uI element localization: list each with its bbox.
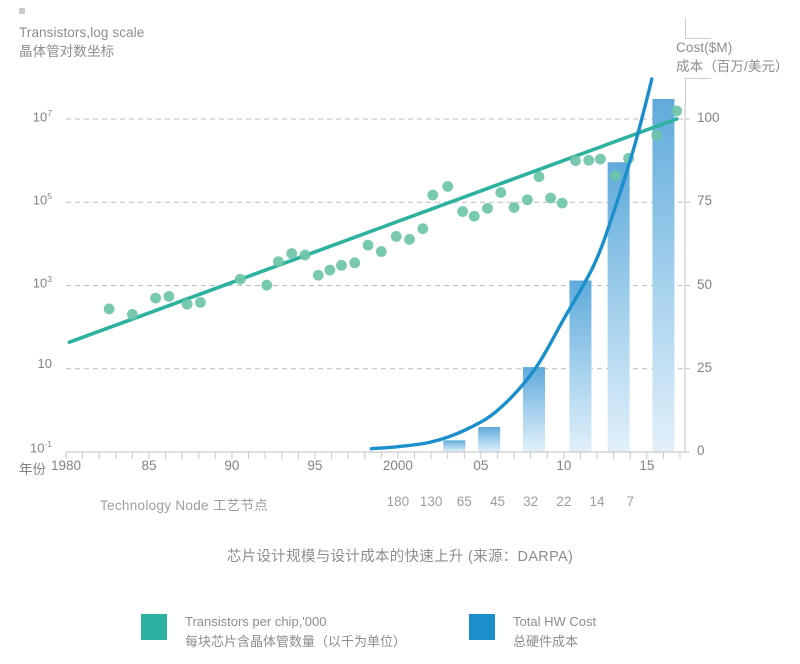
- scatter-point: [163, 291, 174, 302]
- chart-root: Transistors,log scale 晶体管对数坐标 Cost($M) 成…: [0, 0, 800, 664]
- scatter-point: [495, 187, 506, 198]
- scatter-point: [469, 211, 480, 222]
- x-axis-tick-label: 85: [119, 458, 179, 473]
- scatter-point: [442, 181, 453, 192]
- legend-label-transistors-cn: 每块芯片含晶体管数量（以千为单位）: [185, 632, 406, 652]
- scatter-point: [261, 280, 272, 291]
- right-axis-tick-label: 50: [697, 277, 712, 292]
- scatter-point: [286, 248, 297, 259]
- scatter-point: [557, 198, 568, 209]
- scatter-point: [570, 155, 581, 166]
- legend-item-transistors: Transistors per chip,'000 每块芯片含晶体管数量（以千为…: [141, 612, 406, 652]
- legend-item-cost: Total HW Cost 总硬件成本: [469, 612, 596, 652]
- x-axis-tick-label: 1980: [36, 458, 96, 473]
- scatter-point: [457, 206, 468, 217]
- scatter-point: [104, 304, 115, 315]
- scatter-point: [324, 265, 335, 276]
- left-axis-tick-label: 10-1: [0, 439, 52, 455]
- scatter-point: [417, 223, 428, 234]
- cost-bar: [443, 440, 465, 452]
- scatter-point: [404, 234, 415, 245]
- x-axis-tick-label: 95: [285, 458, 345, 473]
- scatter-point: [273, 256, 284, 267]
- scatter-point: [182, 299, 193, 310]
- node-axis-title: Technology Node 工艺节点: [100, 494, 268, 514]
- legend-label-transistors: Transistors per chip,'000 每块芯片含晶体管数量（以千为…: [185, 612, 406, 652]
- cost-bar: [652, 99, 674, 452]
- scatter-point: [336, 260, 347, 271]
- scatter-point: [313, 270, 324, 281]
- scatter-point: [509, 202, 520, 213]
- legend-swatch-cost: [469, 614, 495, 640]
- scatter-point: [671, 106, 682, 117]
- legend-swatch-transistors: [141, 614, 167, 640]
- chart-caption: 芯片设计规模与设计成本的快速上升 (来源：DARPA): [0, 545, 800, 566]
- cost-bar: [478, 427, 500, 452]
- chart-legend: Transistors per chip,'000 每块芯片含晶体管数量（以千为…: [0, 608, 800, 664]
- x-axis-tick-label: 10: [534, 458, 594, 473]
- cost-bars: [443, 99, 674, 452]
- cost-bar: [608, 162, 630, 452]
- scatter-point: [300, 250, 311, 261]
- scatter-point: [391, 231, 402, 242]
- x-axis-tick-label: 90: [202, 458, 262, 473]
- legend-label-cost: Total HW Cost 总硬件成本: [513, 612, 596, 652]
- scatter-point: [583, 155, 594, 166]
- x-axis-tick-label: 05: [451, 458, 511, 473]
- right-axis-tick-label: 75: [697, 193, 712, 208]
- scatter-point: [150, 293, 161, 304]
- scatter-point: [427, 190, 438, 201]
- right-axis-tick-label: 100: [697, 110, 720, 125]
- transistor-scatter-points: [104, 106, 682, 320]
- x-axis-tick-label: 2000: [368, 458, 428, 473]
- gridlines: [66, 119, 685, 452]
- legend-label-cost-cn: 总硬件成本: [513, 632, 596, 652]
- left-axis-tick-label: 107: [0, 108, 52, 124]
- scatter-point: [195, 297, 206, 308]
- right-axis-tick-label: 0: [697, 443, 705, 458]
- scatter-point: [651, 130, 662, 141]
- legend-label-cost-en: Total HW Cost: [513, 614, 596, 629]
- x-axis-tick-label: 15: [617, 458, 677, 473]
- left-axis-tick-label: 10: [0, 356, 52, 371]
- legend-label-transistors-en: Transistors per chip,'000: [185, 614, 326, 629]
- scatter-point: [534, 171, 545, 182]
- scatter-point: [482, 203, 493, 214]
- scatter-point: [376, 246, 387, 257]
- left-axis-tick-label: 105: [0, 191, 52, 207]
- scatter-point: [595, 154, 606, 165]
- scatter-point: [610, 170, 621, 181]
- scatter-point: [363, 240, 374, 251]
- scatter-point: [522, 194, 533, 205]
- scatter-point: [127, 309, 138, 320]
- node-axis-label: 7: [605, 494, 655, 509]
- scatter-point: [545, 193, 556, 204]
- left-axis-tick-label: 103: [0, 274, 52, 290]
- right-axis-tick-label: 25: [697, 360, 712, 375]
- scatter-point: [349, 257, 360, 268]
- scatter-point: [235, 274, 246, 285]
